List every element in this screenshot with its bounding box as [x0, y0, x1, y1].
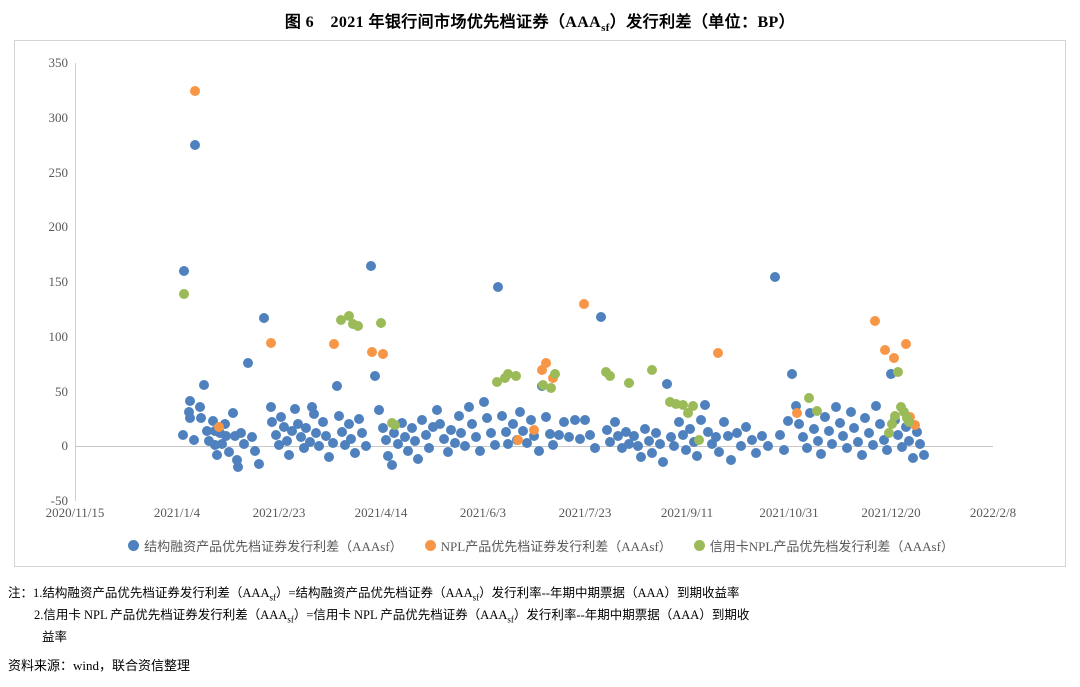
- y-axis-tick-label: 200: [49, 219, 69, 235]
- data-point-series-0: [318, 417, 328, 427]
- data-point-series-0: [647, 448, 657, 458]
- data-point-series-0: [835, 418, 845, 428]
- data-point-series-0: [276, 412, 286, 422]
- y-axis-tick-label: 150: [49, 274, 69, 290]
- legend-item-npl[interactable]: NPL产品优先档证券发行利差（AAAsf）: [425, 536, 672, 555]
- data-point-series-0: [860, 413, 870, 423]
- data-point-series-0: [284, 450, 294, 460]
- footnote-2-number: 2.: [34, 605, 43, 627]
- data-point-series-0: [357, 428, 367, 438]
- data-point-series-0: [816, 449, 826, 459]
- data-point-series-2: [812, 406, 822, 416]
- data-point-series-0: [407, 423, 417, 433]
- data-point-series-0: [651, 428, 661, 438]
- data-point-series-0: [857, 450, 867, 460]
- data-point-series-0: [783, 416, 793, 426]
- footnote-row-2: 2. 信用卡 NPL 产品优先档证券发行利差（AAAsf）=信用卡 NPL 产品…: [8, 605, 1072, 627]
- data-point-series-0: [596, 312, 606, 322]
- legend-label-npl: NPL产品优先档证券发行利差（AAAsf）: [441, 536, 672, 555]
- data-point-series-0: [853, 437, 863, 447]
- data-point-series-0: [424, 443, 434, 453]
- data-point-series-2: [884, 428, 894, 438]
- data-point-series-0: [747, 435, 757, 445]
- page-title: 图 6 2021 年银行间市场优先档证券（AAAsf）发行利差（单位：BP）: [0, 8, 1080, 34]
- data-point-series-0: [185, 396, 195, 406]
- data-point-series-0: [559, 417, 569, 427]
- data-point-series-0: [882, 445, 892, 455]
- data-point-series-0: [475, 446, 485, 456]
- data-point-series-0: [460, 441, 470, 451]
- legend-label-structured: 结构融资产品优先档证券发行利差（AAAsf）: [144, 536, 403, 555]
- data-point-series-0: [410, 436, 420, 446]
- data-point-series-0: [770, 272, 780, 282]
- figure-title-pre: 图 6 2021 年银行间市场优先档证券（AAA: [285, 14, 601, 31]
- data-point-series-0: [247, 432, 257, 442]
- data-point-series-0: [259, 313, 269, 323]
- data-point-series-0: [526, 415, 536, 425]
- data-point-series-0: [674, 417, 684, 427]
- data-point-series-0: [508, 419, 518, 429]
- data-point-series-1: [529, 425, 539, 435]
- data-point-series-0: [751, 448, 761, 458]
- data-point-series-0: [838, 431, 848, 441]
- data-point-series-1: [889, 353, 899, 363]
- data-point-series-1: [579, 299, 589, 309]
- data-point-series-1: [792, 408, 802, 418]
- data-point-series-0: [366, 261, 376, 271]
- data-point-series-0: [541, 412, 551, 422]
- data-point-series-0: [570, 415, 580, 425]
- data-point-series-1: [329, 339, 339, 349]
- data-point-series-1: [541, 358, 551, 368]
- data-point-series-0: [534, 446, 544, 456]
- data-point-series-0: [824, 426, 834, 436]
- legend-swatch-blue: [128, 540, 139, 551]
- chart-legend: 结构融资产品优先档证券发行利差（AAAsf） NPL产品优先档证券发行利差（AA…: [15, 536, 1067, 555]
- data-point-series-0: [610, 417, 620, 427]
- data-point-series-0: [741, 422, 751, 432]
- data-point-series-0: [497, 411, 507, 421]
- data-point-series-2: [546, 383, 556, 393]
- data-point-series-0: [893, 430, 903, 440]
- data-point-series-0: [233, 462, 243, 472]
- data-point-series-0: [314, 441, 324, 451]
- data-point-series-1: [378, 349, 388, 359]
- data-point-series-2: [179, 289, 189, 299]
- data-point-series-1: [513, 435, 523, 445]
- footnote-2-text: 信用卡 NPL 产品优先档证券发行利差（AAAsf）=信用卡 NPL 产品优先档…: [43, 605, 749, 627]
- data-point-series-0: [243, 358, 253, 368]
- data-point-series-2: [376, 318, 386, 328]
- figure-title-subscript: sf: [601, 22, 610, 34]
- data-point-series-0: [904, 436, 914, 446]
- data-point-series-0: [199, 380, 209, 390]
- data-point-series-0: [471, 432, 481, 442]
- data-point-series-0: [846, 407, 856, 417]
- data-point-series-0: [190, 140, 200, 150]
- data-point-series-0: [501, 427, 511, 437]
- data-points-layer: [75, 63, 993, 501]
- data-point-series-0: [726, 455, 736, 465]
- data-point-series-0: [794, 419, 804, 429]
- data-point-series-0: [212, 450, 222, 460]
- data-point-series-1: [266, 338, 276, 348]
- data-point-series-0: [185, 413, 195, 423]
- data-point-series-0: [636, 452, 646, 462]
- data-point-series-0: [454, 411, 464, 421]
- data-point-series-0: [467, 419, 477, 429]
- data-point-series-0: [450, 438, 460, 448]
- data-point-series-0: [719, 417, 729, 427]
- y-axis-tick-label: 250: [49, 165, 69, 181]
- data-point-series-2: [688, 401, 698, 411]
- data-point-series-0: [662, 379, 672, 389]
- data-point-series-0: [301, 423, 311, 433]
- data-point-series-0: [809, 424, 819, 434]
- data-point-series-0: [813, 436, 823, 446]
- figure-title-post: ）发行利差（单位：BP）: [610, 14, 795, 31]
- data-point-series-0: [413, 454, 423, 464]
- data-point-series-0: [669, 441, 679, 451]
- data-point-series-0: [919, 450, 929, 460]
- data-point-series-2: [511, 371, 521, 381]
- data-point-series-0: [655, 439, 665, 449]
- data-point-series-0: [486, 428, 496, 438]
- data-point-series-0: [361, 441, 371, 451]
- data-point-series-2: [647, 365, 657, 375]
- data-point-series-0: [324, 452, 334, 462]
- data-point-series-0: [864, 428, 874, 438]
- data-point-series-0: [575, 434, 585, 444]
- data-point-series-0: [490, 440, 500, 450]
- legend-item-structured[interactable]: 结构融资产品优先档证券发行利差（AAAsf）: [128, 536, 403, 555]
- data-point-series-0: [482, 413, 492, 423]
- data-point-series-0: [685, 424, 695, 434]
- data-point-series-0: [640, 424, 650, 434]
- data-point-series-0: [178, 430, 188, 440]
- data-point-series-0: [464, 402, 474, 412]
- chart-container: 350300250200150100500-50 2020/11/152021/…: [14, 40, 1066, 567]
- legend-swatch-green: [694, 540, 705, 551]
- footnotes: 注： 1. 结构融资产品优先档证券发行利差（AAAsf）=结构融资产品优先档证券…: [8, 583, 1072, 647]
- data-point-series-0: [236, 428, 246, 438]
- data-point-series-1: [870, 316, 880, 326]
- data-point-series-0: [346, 434, 356, 444]
- data-point-series-2: [605, 371, 615, 381]
- data-point-series-0: [849, 423, 859, 433]
- legend-label-credit-card-npl: 信用卡NPL产品优先档发行利差（AAAsf）: [710, 536, 954, 555]
- data-point-series-0: [195, 402, 205, 412]
- data-point-series-0: [290, 404, 300, 414]
- data-point-series-0: [802, 443, 812, 453]
- data-point-series-0: [479, 397, 489, 407]
- x-axis-tick-label: 2020/11/15: [46, 505, 105, 521]
- data-point-series-1: [214, 422, 224, 432]
- data-point-series-0: [179, 266, 189, 276]
- data-point-series-0: [868, 440, 878, 450]
- data-point-series-0: [633, 441, 643, 451]
- data-point-series-0: [328, 438, 338, 448]
- y-axis-tick-label: 50: [55, 384, 68, 400]
- data-point-series-0: [250, 446, 260, 456]
- data-point-series-0: [580, 415, 590, 425]
- data-point-series-0: [548, 440, 558, 450]
- data-point-series-0: [714, 447, 724, 457]
- data-point-series-0: [435, 419, 445, 429]
- data-point-series-0: [224, 447, 234, 457]
- data-point-series-0: [915, 439, 925, 449]
- data-point-series-0: [779, 445, 789, 455]
- x-axis-tick-label: 2021/1/4: [154, 505, 200, 521]
- footnote-1-text: 结构融资产品优先档证券发行利差（AAAsf）=结构融资产品优先档证券（AAAsf…: [42, 583, 739, 605]
- data-point-series-2: [353, 321, 363, 331]
- data-point-series-0: [602, 425, 612, 435]
- data-point-series-0: [196, 413, 206, 423]
- data-point-series-0: [443, 447, 453, 457]
- data-point-series-0: [403, 446, 413, 456]
- data-point-series-0: [417, 415, 427, 425]
- x-axis-tick-label: 2021/9/11: [661, 505, 713, 521]
- data-point-series-0: [354, 414, 364, 424]
- data-point-series-0: [332, 381, 342, 391]
- data-point-series-1: [901, 339, 911, 349]
- data-point-series-2: [624, 378, 634, 388]
- x-axis-tick-label: 2021/7/23: [559, 505, 612, 521]
- data-point-series-0: [644, 436, 654, 446]
- data-point-series-0: [629, 431, 639, 441]
- data-point-series-0: [658, 457, 668, 467]
- data-point-series-0: [798, 432, 808, 442]
- data-point-series-0: [493, 282, 503, 292]
- data-point-series-0: [282, 436, 292, 446]
- footnote-2-wrap: 益率: [8, 627, 1072, 647]
- data-point-series-0: [254, 459, 264, 469]
- data-point-series-0: [820, 412, 830, 422]
- data-point-series-0: [344, 419, 354, 429]
- data-point-series-0: [696, 415, 706, 425]
- data-point-series-0: [350, 448, 360, 458]
- y-axis-tick-label: 100: [49, 329, 69, 345]
- data-point-series-0: [421, 430, 431, 440]
- x-axis-tick-label: 2022/2/8: [970, 505, 1016, 521]
- data-point-series-0: [831, 402, 841, 412]
- data-point-series-0: [787, 369, 797, 379]
- data-point-series-0: [775, 430, 785, 440]
- data-point-series-2: [390, 420, 400, 430]
- data-point-series-0: [681, 445, 691, 455]
- footnote-1-number: 1.: [33, 583, 42, 605]
- x-axis-tick-label: 2021/6/3: [460, 505, 506, 521]
- data-point-series-0: [736, 441, 746, 451]
- data-point-series-0: [266, 402, 276, 412]
- x-axis-tick-label: 2021/2/23: [253, 505, 306, 521]
- data-point-series-1: [367, 347, 377, 357]
- data-point-series-0: [334, 411, 344, 421]
- data-point-series-0: [700, 400, 710, 410]
- data-point-series-0: [309, 409, 319, 419]
- data-point-series-0: [692, 451, 702, 461]
- source-line: 资料来源：wind，联合资信整理: [8, 655, 190, 674]
- data-point-series-0: [842, 443, 852, 453]
- footnote-prefix: 注：: [8, 583, 33, 605]
- data-point-series-0: [554, 430, 564, 440]
- footnote-row-1: 注： 1. 结构融资产品优先档证券发行利差（AAAsf）=结构融资产品优先档证券…: [8, 583, 1072, 605]
- data-point-series-0: [387, 460, 397, 470]
- data-point-series-1: [190, 86, 200, 96]
- data-point-series-0: [271, 430, 281, 440]
- y-axis-tick-label: 350: [49, 55, 69, 71]
- data-point-series-0: [871, 401, 881, 411]
- data-point-series-0: [908, 453, 918, 463]
- x-axis-tick-label: 2021/10/31: [759, 505, 818, 521]
- data-point-series-0: [446, 425, 456, 435]
- x-axis-tick-label: 2021/12/20: [861, 505, 920, 521]
- data-point-series-2: [893, 367, 903, 377]
- data-point-series-0: [515, 407, 525, 417]
- data-point-series-1: [713, 348, 723, 358]
- data-point-series-2: [694, 435, 704, 445]
- data-point-series-2: [804, 393, 814, 403]
- data-point-series-0: [456, 428, 466, 438]
- data-point-series-0: [189, 435, 199, 445]
- data-point-series-0: [711, 432, 721, 442]
- plot-area: 350300250200150100500-50 2020/11/152021/…: [75, 63, 993, 501]
- data-point-series-0: [374, 405, 384, 415]
- data-point-series-0: [590, 443, 600, 453]
- data-point-series-0: [439, 434, 449, 444]
- legend-swatch-orange: [425, 540, 436, 551]
- y-axis-tick-label: 0: [62, 438, 69, 454]
- data-point-series-0: [827, 439, 837, 449]
- data-point-series-2: [904, 417, 914, 427]
- data-point-series-0: [757, 431, 767, 441]
- data-point-series-2: [550, 369, 560, 379]
- data-point-series-0: [732, 428, 742, 438]
- legend-item-credit-card-npl[interactable]: 信用卡NPL产品优先档发行利差（AAAsf）: [694, 536, 954, 555]
- data-point-series-0: [432, 405, 442, 415]
- data-point-series-0: [875, 419, 885, 429]
- data-point-series-0: [585, 430, 595, 440]
- data-point-series-1: [880, 345, 890, 355]
- data-point-series-0: [370, 371, 380, 381]
- y-axis-tick-label: 300: [49, 110, 69, 126]
- data-point-series-0: [763, 441, 773, 451]
- x-axis-tick-label: 2021/4/14: [355, 505, 408, 521]
- data-point-series-0: [228, 408, 238, 418]
- data-point-series-0: [564, 432, 574, 442]
